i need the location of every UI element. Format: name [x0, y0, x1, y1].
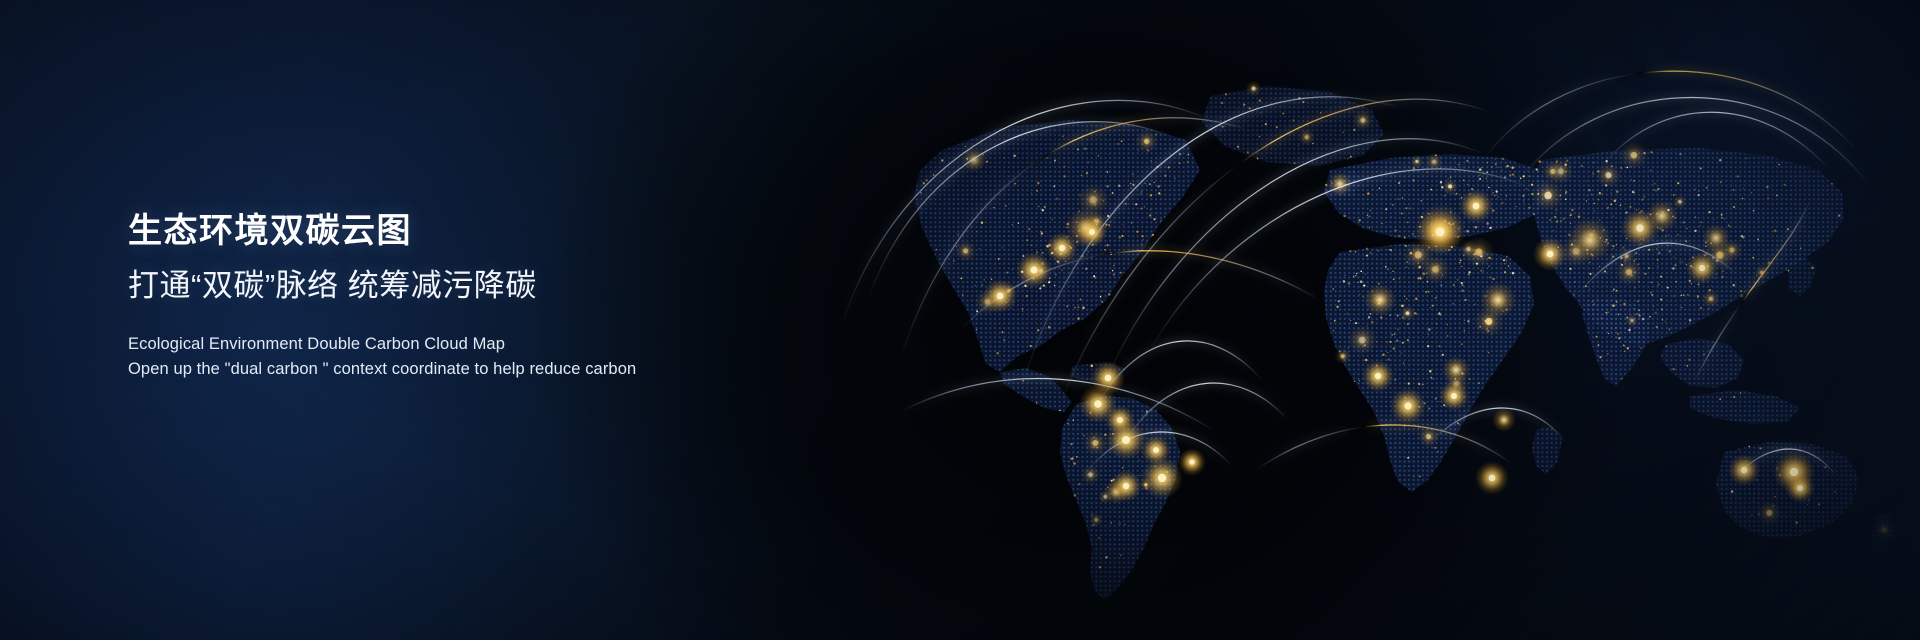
- page-title: 生态环境双碳云图: [128, 210, 768, 254]
- hero-banner: 生态环境双碳云图 打通“双碳”脉络 统筹减污降碳 Ecological Envi…: [0, 0, 1920, 640]
- english-subtitle-line-2: Open up the "dual carbon " context coord…: [128, 357, 768, 382]
- english-subtitle-line-1: Ecological Environment Double Carbon Clo…: [128, 332, 768, 357]
- hero-text-block: 生态环境双碳云图 打通“双碳”脉络 统筹减污降碳 Ecological Envi…: [128, 210, 768, 382]
- page-subtitle: 打通“双碳”脉络 统筹减污降碳: [128, 266, 768, 306]
